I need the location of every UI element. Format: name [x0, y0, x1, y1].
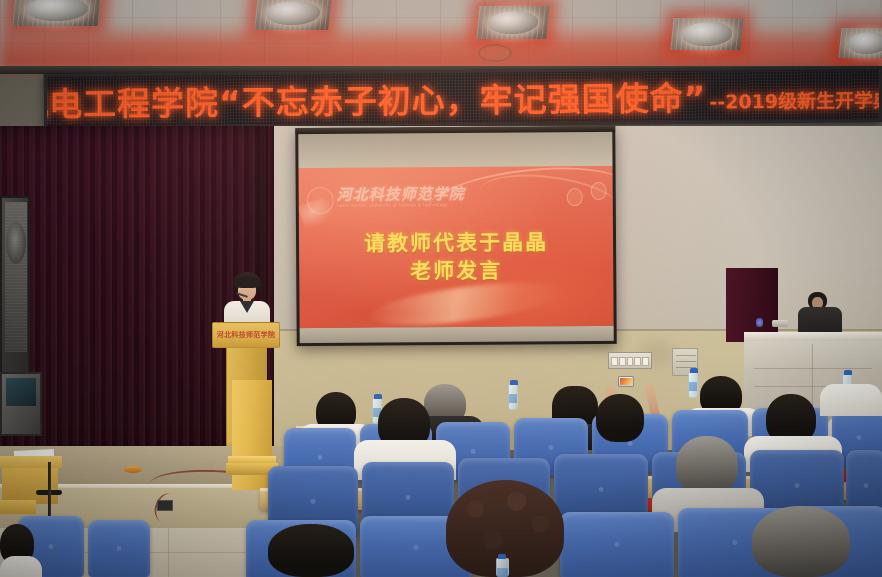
- audience-member-head: [268, 524, 354, 577]
- led-banner-suffix-text: --2019级新生开学典礼: [709, 85, 882, 114]
- logo-english-name: Hebei Normal University of Science & Tec…: [337, 202, 448, 208]
- projected-slide: 河北科技师范学院 Hebei Normal University of Scie…: [299, 166, 614, 328]
- stage-monitor-speaker: [0, 372, 42, 436]
- av-booth-operator: [798, 292, 842, 336]
- stage-curtain-right: [726, 268, 778, 342]
- monitor-screen: [6, 378, 36, 406]
- audience-member-shoulders: [0, 556, 42, 577]
- floor-socket-box: [157, 500, 173, 511]
- auditorium-seat[interactable]: [560, 512, 674, 577]
- stage-object: [124, 466, 142, 473]
- ceiling-spotlight-icon: [838, 28, 882, 58]
- water-bottle: [496, 558, 509, 577]
- ceiling-red-light-wash: [0, 22, 882, 70]
- auditorium-photo: 机电工程学院“不忘赤子初心，牢记强国使命”--2019级新生开学典礼 河北科技师…: [0, 0, 882, 577]
- projection-screen: 河北科技师范学院 Hebei Normal University of Scie…: [295, 126, 617, 346]
- ceiling-spotlight-icon: [12, 0, 102, 26]
- audience-member-shoulders: [820, 384, 882, 416]
- led-banner-text-row: 机电工程学院“不忘赤子初心，牢记强国使命”--2019级新生开学典礼: [47, 69, 879, 127]
- light-switch-panel[interactable]: [608, 352, 652, 369]
- light-switch[interactable]: [642, 357, 649, 366]
- water-bottle: [688, 372, 698, 398]
- water-bottle: [508, 384, 518, 410]
- auditorium-seat[interactable]: [88, 520, 150, 577]
- slide-heading-line-2: 老师发言: [299, 254, 613, 286]
- av-desk-top-edge: [744, 332, 882, 341]
- presenter-speaker: [220, 272, 274, 328]
- light-switch[interactable]: [627, 357, 634, 366]
- slide-lantern-icon: [567, 188, 583, 206]
- screen-bottom-bar: [300, 326, 614, 343]
- av-equipment: [772, 320, 788, 327]
- phone-screen: [620, 378, 633, 385]
- podium-label-text: 河北科技师范学院: [213, 330, 279, 340]
- ceiling-spotlight-icon: [670, 18, 743, 50]
- audience-member-head: [596, 394, 644, 442]
- side-desk-top: [0, 456, 62, 468]
- ceiling-smoke-detector-icon: [478, 44, 512, 62]
- led-banner-main-text: 机电工程学院“不忘赤子初心，牢记强国使命”: [44, 72, 707, 127]
- slide-lantern-icon: [591, 182, 607, 200]
- ceiling-spotlight-icon: [254, 0, 332, 30]
- led-banner: 机电工程学院“不忘赤子初心，牢记强国使命”--2019级新生开学典礼: [44, 66, 882, 130]
- audience-member-head: [676, 436, 738, 494]
- light-switch[interactable]: [619, 357, 626, 366]
- podium-front-panel: 河北科技师范学院: [212, 322, 280, 348]
- light-switch[interactable]: [634, 357, 641, 366]
- av-indicator-light: [756, 318, 763, 327]
- av-desk-panel-line: [754, 368, 872, 369]
- audience-member-head: [752, 506, 850, 577]
- ceiling-spotlight-icon: [476, 6, 549, 39]
- smartphone-camera[interactable]: [618, 376, 634, 387]
- light-switch[interactable]: [611, 357, 618, 366]
- pa-speaker-cabinet: [0, 196, 30, 386]
- presenter-fringe: [234, 277, 260, 288]
- screen-blank-area: [298, 132, 612, 170]
- side-desk-lower: [0, 500, 36, 514]
